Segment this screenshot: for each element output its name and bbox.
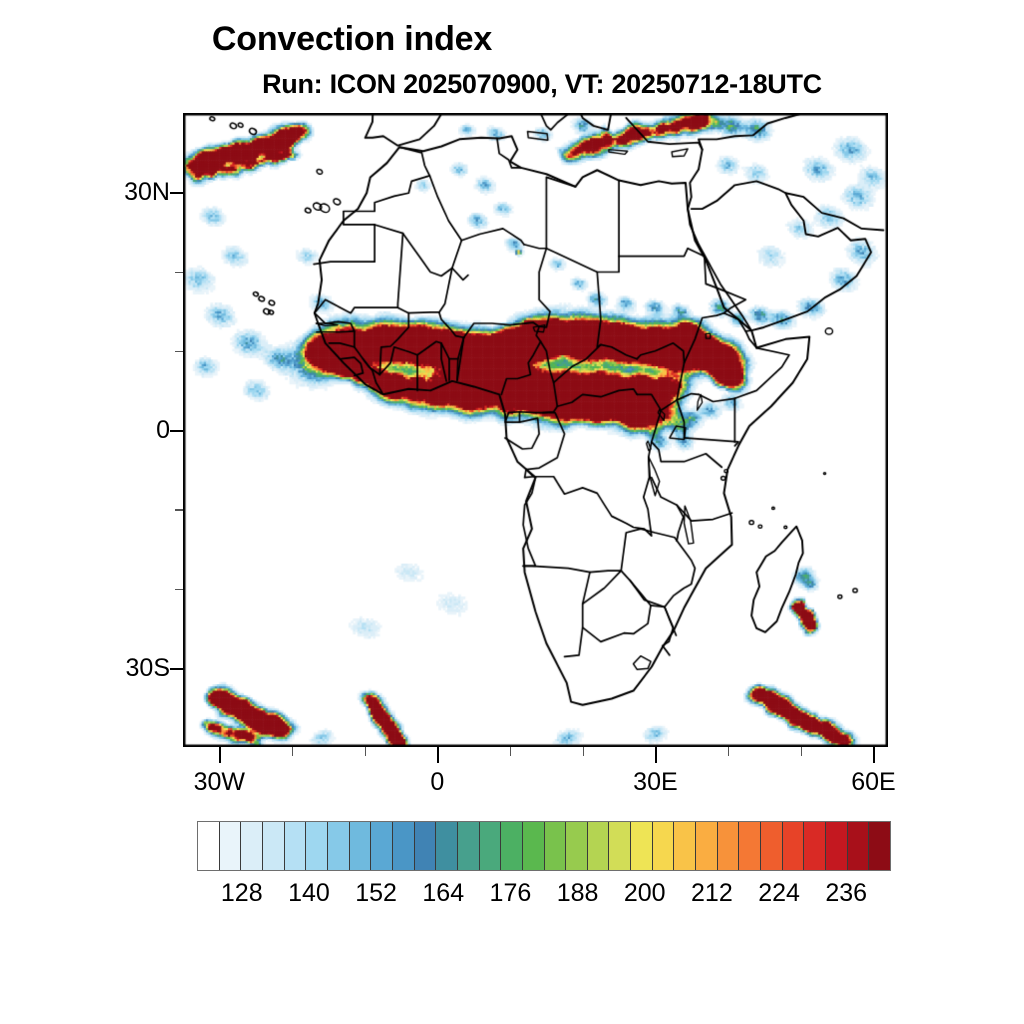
y-tick-5	[175, 589, 183, 590]
colorbar-cell-25	[739, 822, 761, 870]
colorbar-cell-17	[566, 822, 588, 870]
colorbar-cell-12	[458, 822, 480, 870]
x-tick-4	[510, 747, 511, 756]
map-plot-area[interactable]	[183, 113, 888, 747]
colorbar-cell-8	[371, 822, 393, 870]
colorbar-cell-19	[609, 822, 631, 870]
colorbar-cell-27	[783, 822, 805, 870]
colorbar-tick-labels: 128140152164176188200212224236	[197, 879, 891, 915]
x-tick-label-0: 0	[377, 768, 497, 797]
y-tick-0	[170, 192, 183, 194]
colorbar-cell-23	[696, 822, 718, 870]
y-tick-6	[170, 668, 183, 670]
colorbar-cell-14	[501, 822, 523, 870]
y-tick-4	[175, 509, 183, 510]
colorbar-cell-9	[393, 822, 415, 870]
colorbar-cell-15	[523, 822, 545, 870]
colorbar-cell-28	[804, 822, 826, 870]
x-axis-labels: 30W030E60E	[183, 768, 888, 802]
colorbar-cell-30	[848, 822, 870, 870]
x-tick-8	[801, 747, 802, 756]
run-valid-time-subtitle: Run: ICON 2025070900, VT: 20250712-18UTC	[30, 69, 1024, 100]
y-tick-label-0: 0	[80, 416, 170, 445]
x-tick-7	[728, 747, 729, 756]
colorbar-cell-31	[869, 822, 890, 870]
colorbar-cell-21	[653, 822, 675, 870]
colorbar-cell-7	[350, 822, 372, 870]
x-tick-label-30W: 30W	[159, 768, 279, 797]
y-tick-2	[175, 351, 183, 352]
y-tick-3	[170, 430, 183, 432]
colorbar-cell-24	[718, 822, 740, 870]
x-tick-5	[583, 747, 584, 756]
y-tick-label-30S: 30S	[80, 654, 170, 683]
colorbar-cell-20	[631, 822, 653, 870]
colorbar-cells	[197, 821, 891, 871]
colorbar-cell-22	[674, 822, 696, 870]
colorbar-cell-18	[588, 822, 610, 870]
x-tick-2	[365, 747, 366, 756]
colorbar-cell-16	[545, 822, 567, 870]
x-tick-label-30E: 30E	[595, 768, 715, 797]
colorbar-label-236: 236	[801, 879, 891, 908]
colorbar-cell-11	[436, 822, 458, 870]
convection-index-map	[184, 114, 887, 746]
colorbar-cell-10	[415, 822, 437, 870]
colorbar-cell-2	[241, 822, 263, 870]
colorbar-cell-0	[198, 822, 220, 870]
x-tick-6	[655, 747, 657, 763]
colorbar[interactable]	[197, 821, 891, 871]
x-tick-label-60E: 60E	[813, 768, 933, 797]
colorbar-cell-1	[220, 822, 242, 870]
page-title: Convection index	[0, 20, 864, 59]
colorbar-cell-6	[328, 822, 350, 870]
colorbar-cell-26	[761, 822, 783, 870]
colorbar-cell-4	[285, 822, 307, 870]
x-tick-3	[437, 747, 439, 763]
x-tick-9	[873, 747, 875, 763]
y-tick-label-30N: 30N	[80, 178, 170, 207]
convection-index-figure: Convection index Run: ICON 2025070900, V…	[0, 0, 1024, 1024]
colorbar-cell-5	[306, 822, 328, 870]
colorbar-cell-3	[263, 822, 285, 870]
y-tick-1	[175, 272, 183, 273]
y-axis-labels: 30N030S	[35, 113, 170, 747]
colorbar-cell-13	[480, 822, 502, 870]
x-tick-1	[292, 747, 293, 756]
x-tick-0	[219, 747, 221, 763]
colorbar-cell-29	[826, 822, 848, 870]
